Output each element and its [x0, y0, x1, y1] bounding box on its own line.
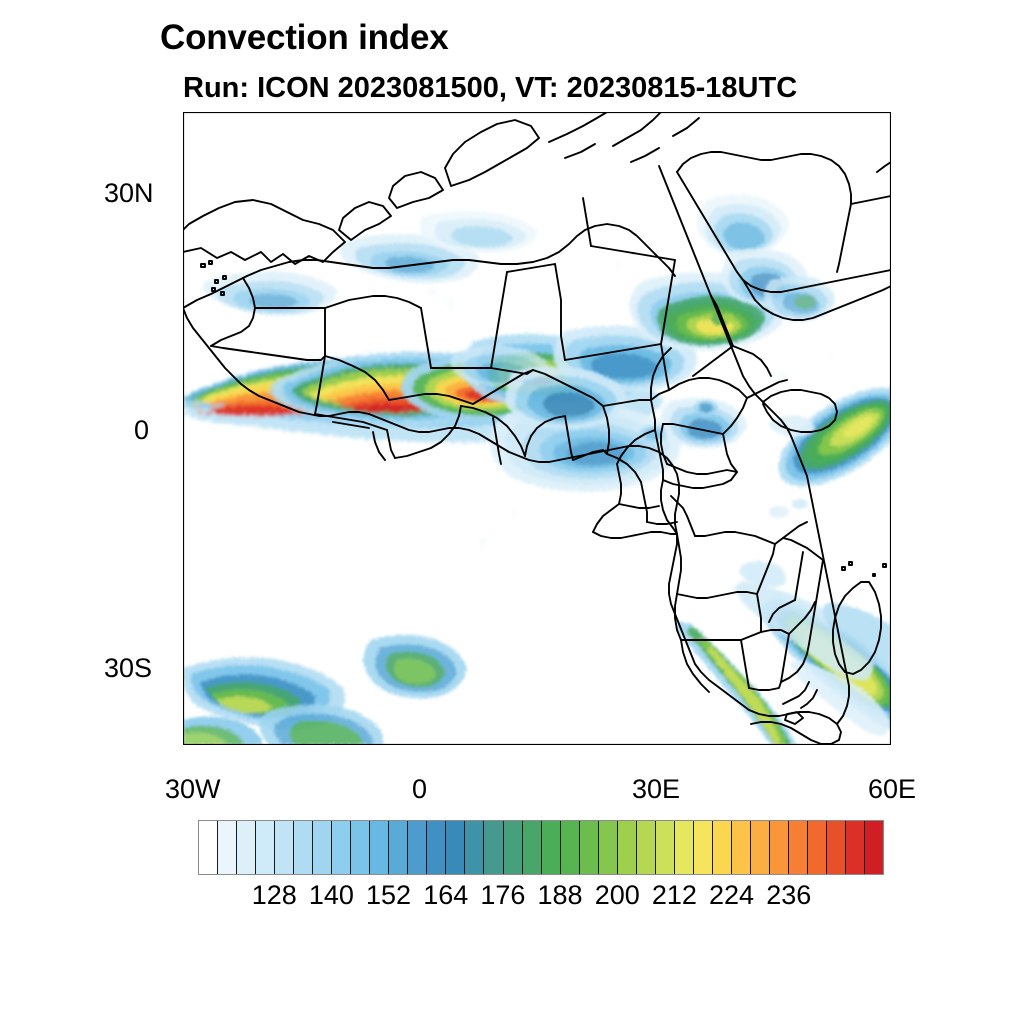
- colorbar-cell: [770, 821, 789, 874]
- colorbar-cell: [237, 821, 256, 874]
- page-title: Convection index: [160, 18, 449, 58]
- colorbar-cell: [275, 821, 294, 874]
- colorbar-cell: [751, 821, 770, 874]
- colorbar-tick: 200: [595, 880, 640, 911]
- colorbar-cell: [599, 821, 618, 874]
- colorbar-tick: 140: [309, 880, 354, 911]
- colorbar-tick: 224: [709, 880, 754, 911]
- y-axis-label-0: 0: [134, 415, 149, 446]
- colorbar-tick: 152: [366, 880, 411, 911]
- colorbar: [198, 820, 884, 875]
- colorbar-tick: 164: [423, 880, 468, 911]
- colorbar-cell: [789, 821, 808, 874]
- colorbar-cell: [294, 821, 313, 874]
- colorbar-cell: [408, 821, 427, 874]
- colorbar-cell: [561, 821, 580, 874]
- colorbar-cell: [218, 821, 237, 874]
- colorbar-cell: [504, 821, 523, 874]
- y-axis-label-30s: 30S: [104, 653, 152, 684]
- colorbar-cell: [199, 821, 218, 874]
- x-axis-label-60e: 60E: [868, 774, 916, 805]
- colorbar-cell: [580, 821, 599, 874]
- colorbar-cell: [523, 821, 542, 874]
- colorbar-cell: [465, 821, 484, 874]
- colorbar-cell: [351, 821, 370, 874]
- colorbar-cell: [675, 821, 694, 874]
- colorbar-tick: 176: [480, 880, 525, 911]
- colorbar-tick: 128: [252, 880, 297, 911]
- colorbar-cell: [808, 821, 827, 874]
- x-axis-label-0: 0: [412, 774, 427, 805]
- colorbar-cell: [865, 821, 883, 874]
- x-axis-label-30e: 30E: [632, 774, 680, 805]
- colorbar-cells: [198, 820, 884, 875]
- colorbar-cell: [446, 821, 465, 874]
- colorbar-cell: [313, 821, 332, 874]
- colorbar-cell: [846, 821, 865, 874]
- colorbar-cell: [694, 821, 713, 874]
- colorbar-cell: [256, 821, 275, 874]
- colorbar-cell: [618, 821, 637, 874]
- map-plot: [183, 112, 891, 745]
- colorbar-cell: [484, 821, 503, 874]
- colorbar-cell: [389, 821, 408, 874]
- colorbar-cell: [542, 821, 561, 874]
- colorbar-cell: [732, 821, 751, 874]
- colorbar-cell: [637, 821, 656, 874]
- colorbar-cell: [332, 821, 351, 874]
- colorbar-tick: 236: [766, 880, 811, 911]
- x-axis-label-30w: 30W: [165, 774, 221, 805]
- colorbar-cell: [370, 821, 389, 874]
- colorbar-tick: 188: [538, 880, 583, 911]
- colorbar-tick-labels: 128140152164176188200212224236: [198, 880, 884, 914]
- y-axis-label-30n: 30N: [104, 178, 154, 209]
- colorbar-tick: 212: [652, 880, 697, 911]
- colorbar-cell: [827, 821, 846, 874]
- colorbar-cell: [656, 821, 675, 874]
- colorbar-cell: [713, 821, 732, 874]
- colorbar-cell: [427, 821, 446, 874]
- page-subtitle: Run: ICON 2023081500, VT: 20230815-18UTC: [183, 72, 797, 105]
